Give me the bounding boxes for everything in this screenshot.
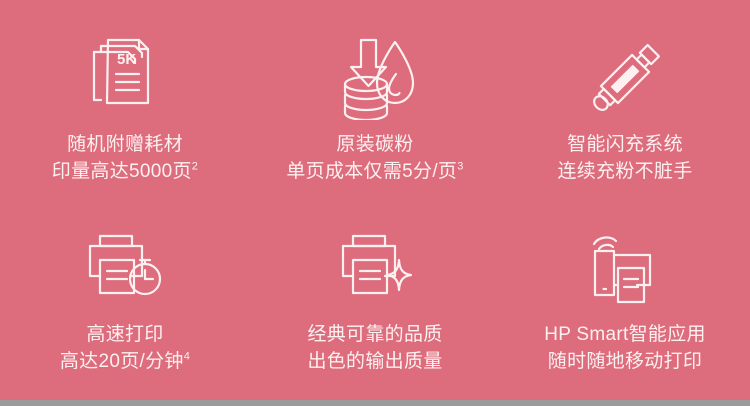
feature-line-2: 高达20页/分钟4	[60, 349, 190, 376]
feature-caption: 随机附赠耗材 印量高达5000页2	[52, 132, 198, 186]
feature-line-2: 随时随地移动打印	[544, 349, 706, 376]
feature-item-fast-print: 高速打印 高达20页/分钟4	[0, 200, 250, 400]
feature-footnote: 3	[457, 161, 463, 173]
feature-item-supplies: 5K 随机附赠耗材 印量高达5000页2	[0, 0, 250, 200]
feature-line-1: 高速打印	[60, 322, 190, 349]
feature-item-hp-smart: HP Smart智能应用 随时随地移动打印	[500, 200, 750, 400]
feature-caption: 智能闪充系统 连续充粉不脏手	[557, 132, 692, 186]
feature-line-1: 随机附赠耗材	[52, 132, 198, 159]
feature-grid: 5K 随机附赠耗材 印量高达5000页2	[0, 0, 750, 400]
feature-line-2: 连续充粉不脏手	[557, 159, 692, 186]
feature-caption: HP Smart智能应用 随时随地移动打印	[544, 322, 706, 376]
svg-text:5K: 5K	[117, 51, 136, 68]
feature-line-2: 出色的输出质量	[307, 349, 442, 376]
feature-line-2: 印量高达5000页2	[52, 159, 198, 186]
feature-line-1: 经典可靠的品质	[307, 322, 442, 349]
toner-refill-cartridge-icon	[581, 36, 669, 122]
feature-item-toner-cost: 原装碳粉 单页成本仅需5分/页3	[250, 0, 500, 200]
mobile-wireless-printing-icon	[582, 226, 668, 312]
feature-line-2: 单页成本仅需5分/页3	[286, 159, 463, 186]
printer-feature-banner: 5K 随机附赠耗材 印量高达5000页2	[0, 0, 750, 400]
feature-line-1: HP Smart智能应用	[544, 322, 706, 349]
feature-footnote: 4	[184, 351, 190, 363]
feature-item-flash-refill: 智能闪充系统 连续充粉不脏手	[500, 0, 750, 200]
printer-sparkle-icon	[333, 226, 419, 312]
feature-caption: 经典可靠的品质 出色的输出质量	[307, 322, 442, 376]
document-stack-5k-icon: 5K	[84, 36, 166, 122]
bottom-divider-strip	[0, 400, 750, 406]
feature-caption: 原装碳粉 单页成本仅需5分/页3	[286, 132, 463, 186]
feature-line-1: 原装碳粉	[286, 132, 463, 159]
feature-line-1: 智能闪充系统	[557, 132, 692, 159]
feature-footnote: 2	[192, 161, 198, 173]
feature-item-print-quality: 经典可靠的品质 出色的输出质量	[250, 200, 500, 400]
feature-caption: 高速打印 高达20页/分钟4	[60, 322, 190, 376]
toner-drop-coins-icon	[333, 36, 419, 122]
printer-stopwatch-icon	[82, 226, 168, 312]
